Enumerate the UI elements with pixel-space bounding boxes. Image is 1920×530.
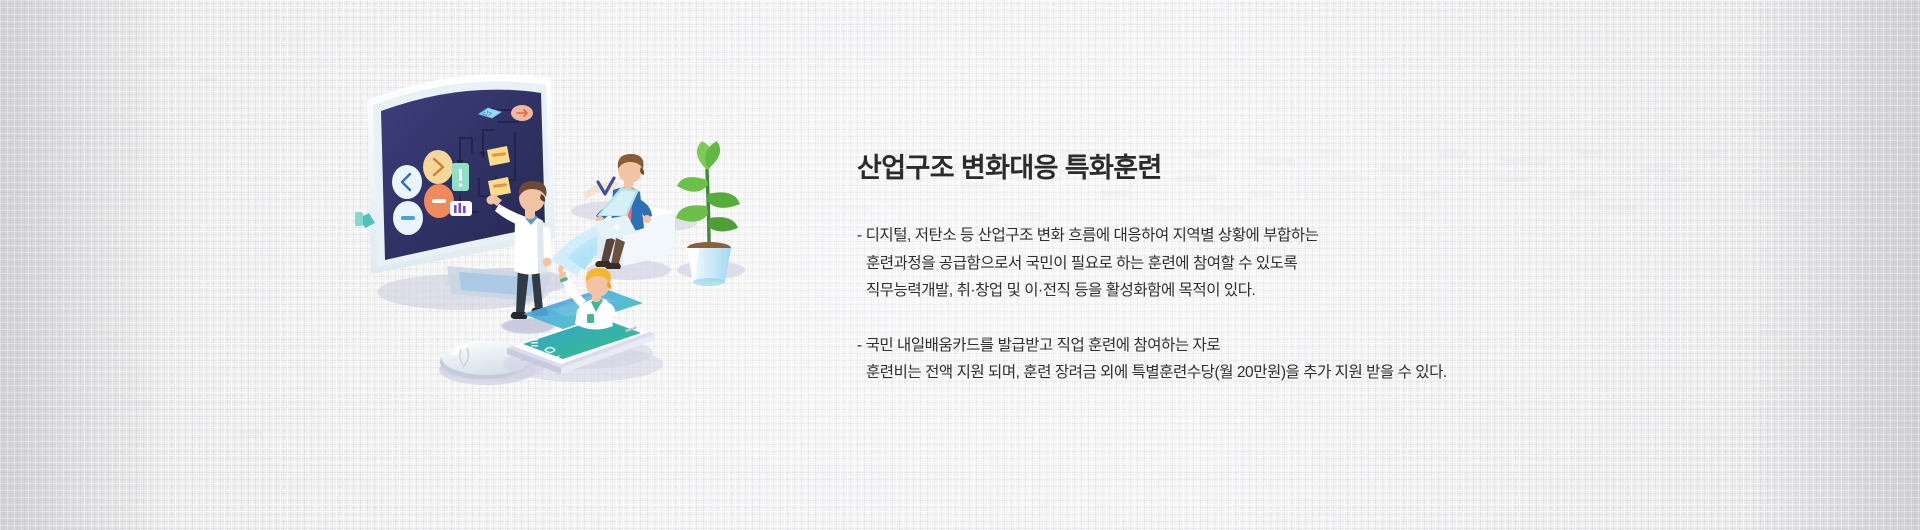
bullet-block-purpose: - 디지털, 저탄소 등 산업구조 변화 흐름에 대응하여 지역별 상황에 부합… [857, 222, 1597, 305]
hero-illustration: </> [355, 70, 815, 400]
svg-text:</>: </> [482, 111, 492, 118]
page-title: 산업구조 변화대응 특화훈련 [857, 152, 1597, 184]
banner-copy: 산업구조 변화대응 특화훈련 - 디지털, 저탄소 등 산업구조 변화 흐름에 … [857, 152, 1597, 387]
bullet-1-line-3: 직무능력개발, 취·창업 및 이·전직 등을 활성화함에 목적이 있다. [857, 277, 1597, 305]
person-with-laptop-on-cube [587, 154, 675, 280]
bullet-1-line-1: - 디지털, 저탄소 등 산업구조 변화 흐름에 대응하여 지역별 상황에 부합… [857, 222, 1597, 250]
promo-banner: </> [0, 0, 1920, 530]
potted-plant [676, 141, 745, 286]
bullet-2-line-2: 훈련비는 전액 지원 되며, 훈련 장려금 외에 특별훈련수당(월 20만원)을… [857, 359, 1597, 387]
bullet-block-eligibility: - 국민 내일배움카드를 발급받고 직업 훈련에 참여하는 자로 훈련비는 전액… [857, 332, 1597, 387]
bullet-1-line-2: 훈련과정을 공급함으로서 국민이 필요로 하는 훈련에 참여할 수 있도록 [857, 250, 1597, 278]
bullet-2-line-1: - 국민 내일배움카드를 발급받고 직업 훈련에 참여하는 자로 [857, 332, 1597, 360]
